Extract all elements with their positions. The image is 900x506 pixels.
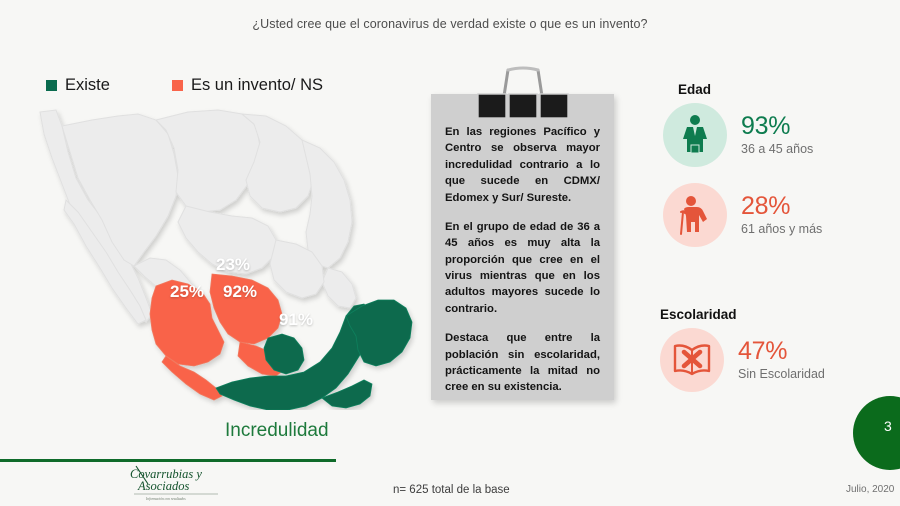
base-note: n= 625 total de la base <box>393 484 510 496</box>
svg-text:Asociados: Asociados <box>137 479 190 493</box>
covarrubias-asociados-logo: Covarrubias y Asociados Información con … <box>126 464 234 502</box>
map-shapes <box>40 110 412 410</box>
stat-bubble-green <box>663 103 727 167</box>
business-person-icon <box>676 114 714 156</box>
page-number: 3 <box>884 418 892 434</box>
stat-label-36-45: 36 a 45 años <box>741 143 813 157</box>
stat-row-61-mas: 28% 61 años y más <box>663 183 822 247</box>
legend-item-existe: Existe <box>46 76 110 95</box>
map-region-centro <box>210 274 282 344</box>
stat-row-36-45: 93% 36 a 45 años <box>663 103 813 167</box>
stat-text-sin-escolaridad: 47% Sin Escolaridad <box>738 338 825 382</box>
insight-paragraph-2: En el grupo de edad de 36 a 45 años es m… <box>445 219 600 317</box>
stat-row-sin-escolaridad: 47% Sin Escolaridad <box>660 328 825 392</box>
legend-item-invento: Es un invento/ NS <box>172 76 323 95</box>
map-region-durango-zacatecas <box>178 206 276 274</box>
legend-swatch-invento <box>172 80 183 91</box>
insights-note-card: En las regiones Pacífico y Centro se obs… <box>431 94 614 400</box>
elderly-person-cane-icon <box>675 194 715 236</box>
footer-date: Julio, 2020 <box>846 484 894 495</box>
map-svg <box>10 100 430 410</box>
page-title: ¿Usted cree que el coronavirus de verdad… <box>0 17 900 31</box>
stat-group-heading-edad: Edad <box>678 82 711 97</box>
map-legend: Existe Es un invento/ NS <box>46 76 323 95</box>
legend-label-invento: Es un invento/ NS <box>191 76 323 95</box>
insight-paragraph-1: En las regiones Pacífico y Centro se obs… <box>445 124 600 206</box>
legend-swatch-existe <box>46 80 57 91</box>
stat-bubble-red-elderly <box>663 183 727 247</box>
stat-text-36-45: 93% 36 a 45 años <box>741 113 813 157</box>
insights-note-body: En las regiones Pacífico y Centro se obs… <box>431 94 614 406</box>
stat-label-sin-escolaridad: Sin Escolaridad <box>738 368 825 382</box>
stat-percent-47: 47% <box>738 338 825 365</box>
stat-bubble-red-book <box>660 328 724 392</box>
map-region-nuevoleon-tamaulipas <box>302 140 352 268</box>
stat-percent-28: 28% <box>741 193 822 220</box>
legend-label-existe: Existe <box>65 76 110 95</box>
stat-text-61-mas: 28% 61 años y más <box>741 193 822 237</box>
stat-percent-93: 93% <box>741 113 813 140</box>
stat-label-61-mas: 61 años y más <box>741 223 822 237</box>
slide: ¿Usted cree que el coronavirus de verdad… <box>0 0 900 506</box>
stat-group-heading-escolaridad: Escolaridad <box>660 307 737 322</box>
mexico-choropleth-map: 23% 25% 92% 91% <box>10 100 430 410</box>
map-region-tamaulipas-south <box>322 268 356 308</box>
footer-divider <box>0 459 336 462</box>
section-name: Incredulidad <box>225 420 329 442</box>
book-crossed-out-icon <box>671 341 713 379</box>
binder-clip-icon <box>470 66 576 122</box>
logo-tagline: Información con resultados <box>145 497 186 501</box>
insight-paragraph-3: Destaca que entre la población sin escol… <box>445 330 600 396</box>
page-badge <box>853 396 900 470</box>
